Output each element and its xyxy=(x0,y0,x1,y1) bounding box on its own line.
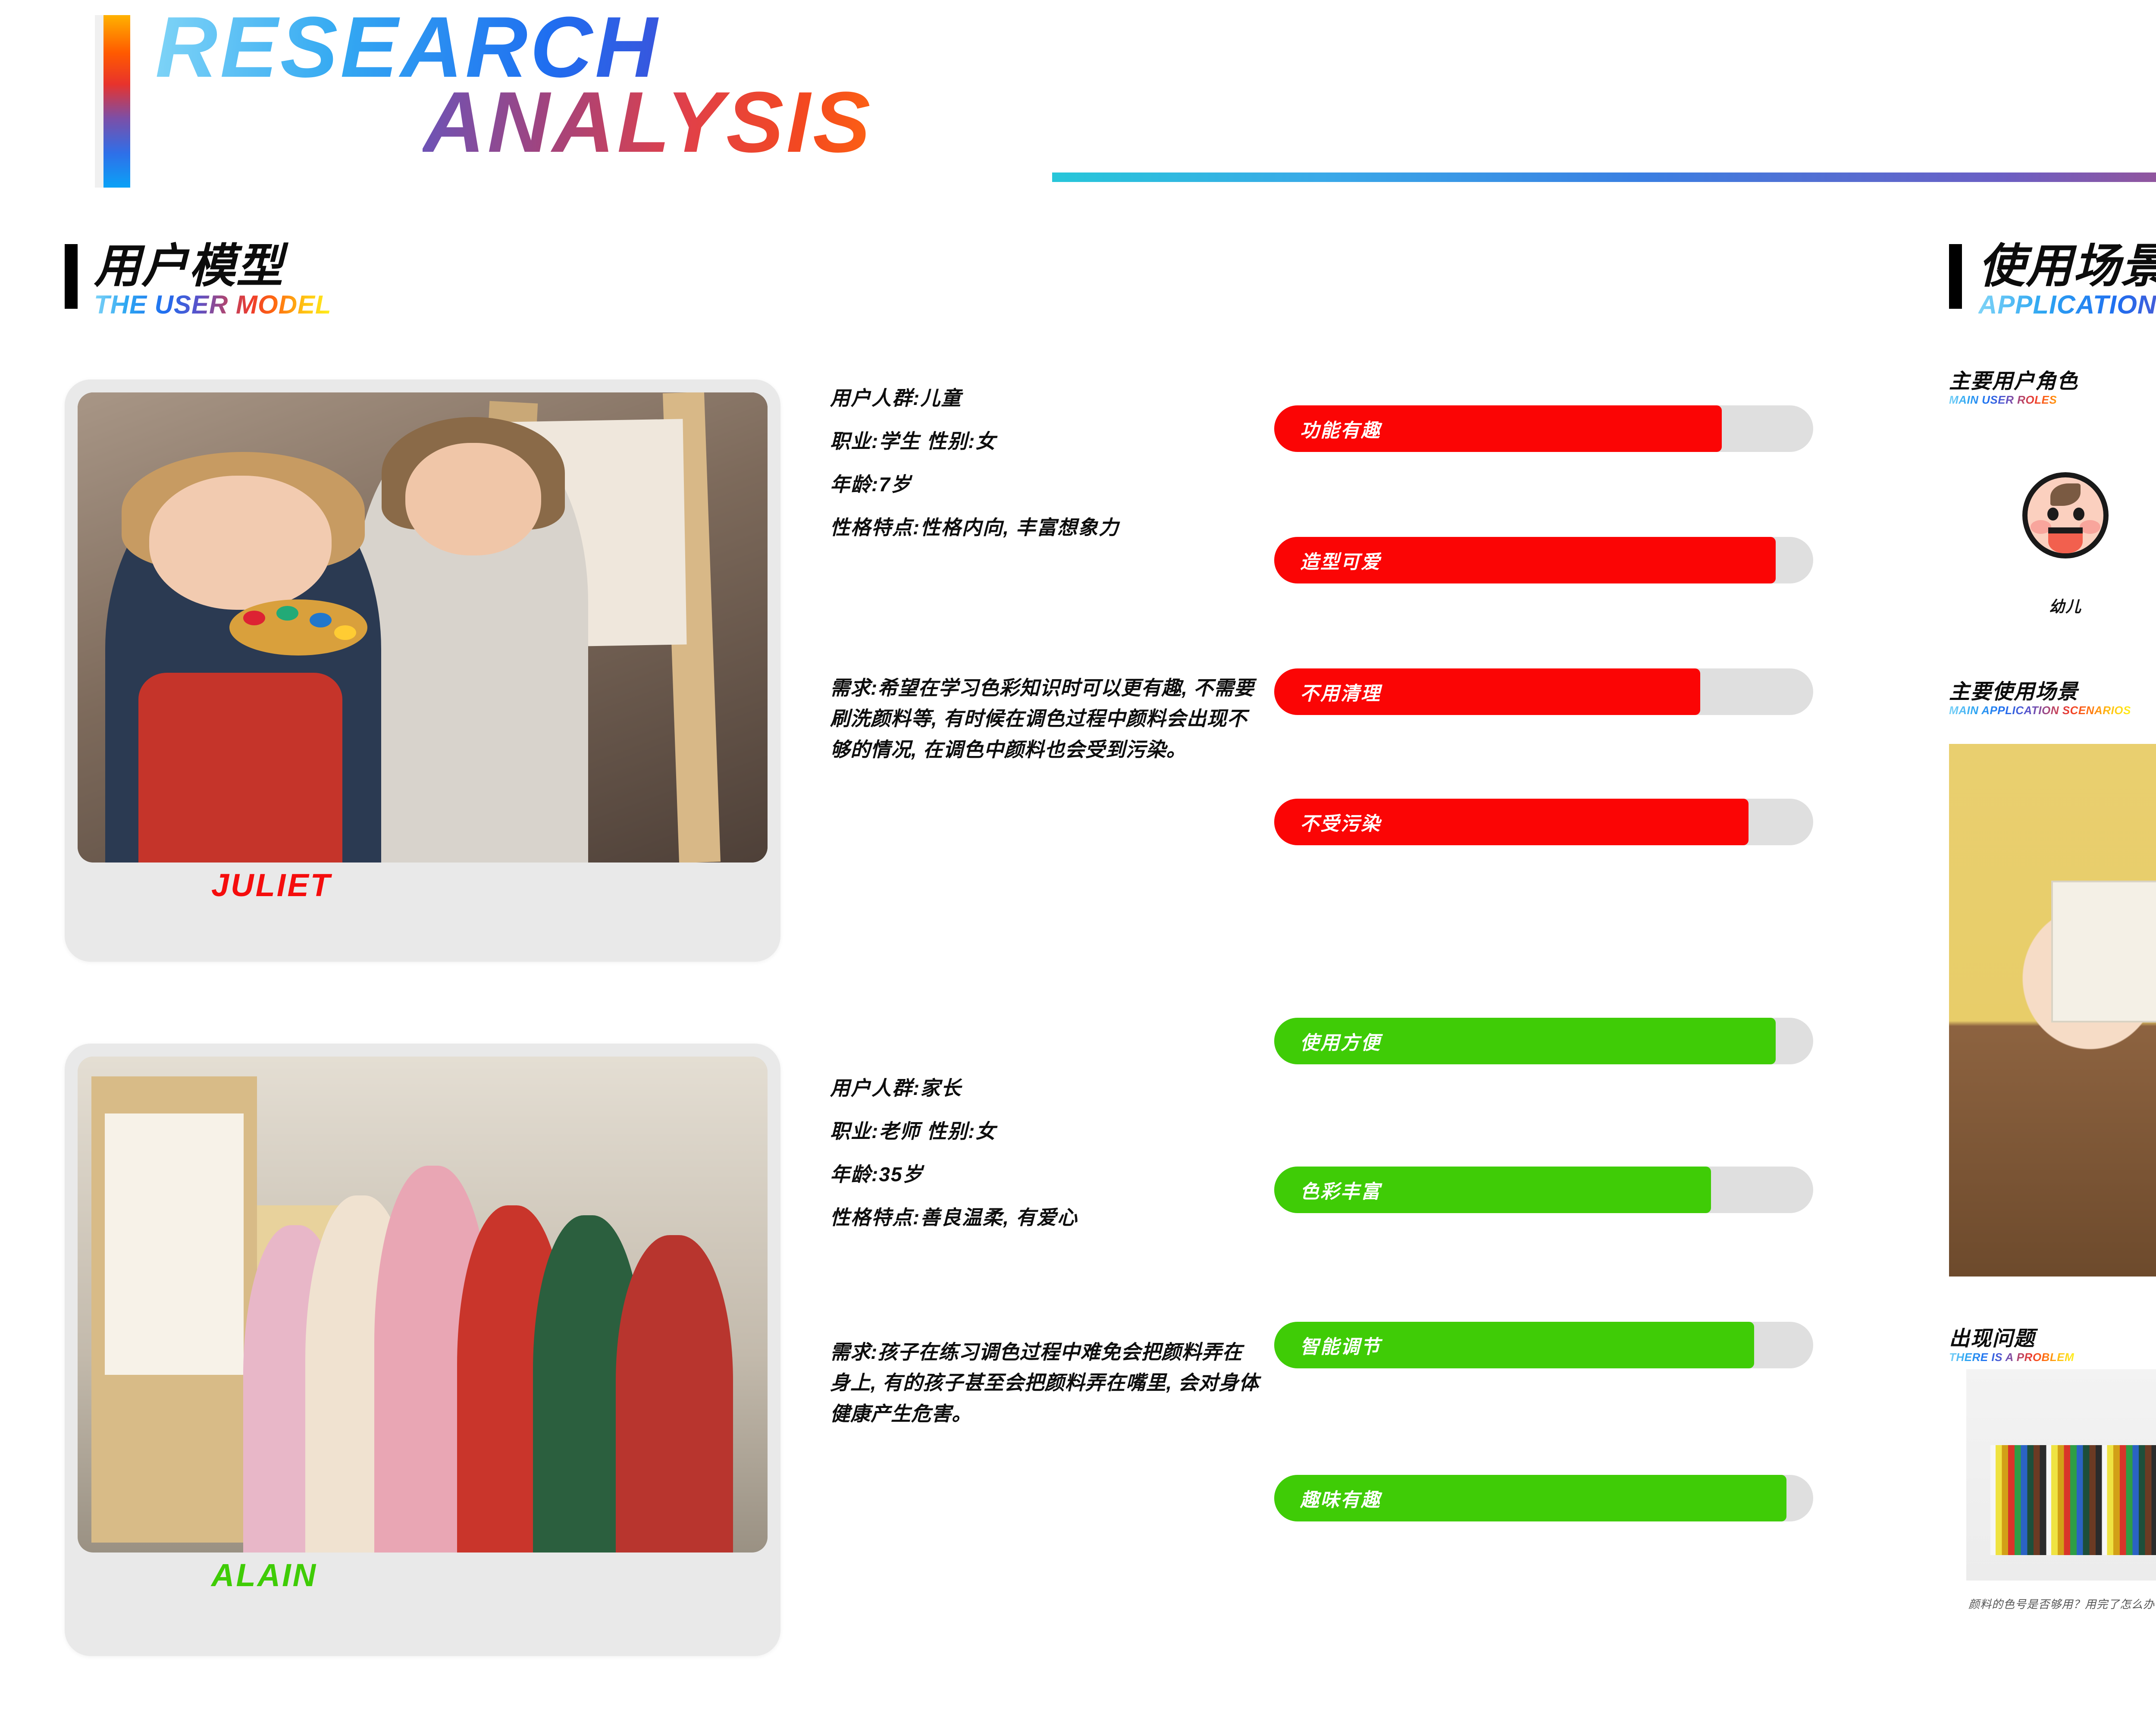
stat-bar-track: 色彩丰富 xyxy=(1274,1167,1813,1213)
stat-bar-label: 造型可爱 xyxy=(1300,546,1381,574)
section-heading-application-scenario: 使用场景分析 APPLICATION SCENARIO ANALYSIS xyxy=(1949,241,2156,328)
stat-bar-fill: 不受污染 xyxy=(1274,799,1749,845)
stat-bar-track: 造型可爱 xyxy=(1274,537,1813,583)
role-label: 幼儿 xyxy=(1966,594,2156,617)
stat-bar-fill: 不用清理 xyxy=(1274,668,1700,715)
heading-cn-text: 使用场景分析 xyxy=(1978,241,2156,290)
stat-bar-fill: 造型可爱 xyxy=(1274,537,1776,583)
heading-tick-mark xyxy=(65,244,78,309)
stat-bar-label: 不用清理 xyxy=(1300,678,1381,706)
stat-bar-track: 不受污染 xyxy=(1274,799,1813,845)
heading-en-text: APPLICATION SCENARIO ANALYSIS xyxy=(1978,290,2156,320)
scenario-photo-girl-painting-easel-yellow-room xyxy=(1949,744,2156,1276)
persona-info-line: 性格特点:善良温柔, 有爱心 xyxy=(830,1207,1078,1227)
persona-need-alain: 需求:孩子在练习调色过程中难免会把颜料弄在身上, 有的孩子甚至会把颜料弄在嘴里,… xyxy=(830,1337,1261,1429)
role-item-toddler: 幼儿 xyxy=(1966,444,2156,617)
persona-info-line: 性格特点:性格内向, 丰富想象力 xyxy=(830,517,1119,537)
persona-info-line: 年龄:35岁 xyxy=(830,1164,1078,1184)
stat-bar-track: 功能有趣 xyxy=(1274,405,1813,452)
problem-caption: 颜料的色号是否够用？用完了怎么办？ xyxy=(1968,1596,2156,1612)
problem-photo-paint-tubes-row xyxy=(1966,1369,2156,1581)
stat-bar-fill: 智能调节 xyxy=(1274,1322,1754,1368)
header-accent-bar xyxy=(103,15,130,188)
subheading-there-is-a-problem: 出现问题 THERE IS A PROBLEM xyxy=(1949,1328,2074,1364)
subheading-cn-text: 出现问题 xyxy=(1949,1328,2074,1350)
subheading-main-application-scenarios: 主要使用场景 MAIN APPLICATION SCENARIOS xyxy=(1949,681,2131,717)
persona-info-line: 用户人群:儿童 xyxy=(830,388,1119,408)
persona-card-alain: ALAIN xyxy=(65,1044,780,1656)
persona-info-line: 年龄:7岁 xyxy=(830,474,1119,494)
stat-bar-track: 不用清理 xyxy=(1274,668,1813,715)
stat-bar-label: 趣味有趣 xyxy=(1300,1484,1381,1512)
persona-photo-alain xyxy=(78,1057,768,1552)
persona-info-alain: 用户人群:家长 职业:老师 性别:女 年龄:35岁 性格特点:善良温柔, 有爱心 xyxy=(830,1078,1078,1251)
stat-bar-track: 趣味有趣 xyxy=(1274,1475,1813,1521)
baby-face-icon xyxy=(1966,444,2156,586)
stat-bar-label: 不受污染 xyxy=(1300,808,1381,836)
persona-card-juliet: JULIET xyxy=(65,379,780,962)
header-gradient-rule xyxy=(1052,172,2156,182)
stat-bar-label: 色彩丰富 xyxy=(1300,1176,1381,1204)
stat-bar-fill: 使用方便 xyxy=(1274,1018,1776,1064)
heading-cn-text: 用户模型 xyxy=(94,241,284,290)
stat-bar-fill: 色彩丰富 xyxy=(1274,1167,1711,1213)
persona-info-line: 职业:老师 性别:女 xyxy=(830,1121,1078,1141)
heading-en-text: THE USER MODEL xyxy=(94,290,332,320)
subheading-main-user-roles: 主要用户角色 MAIN USER ROLES xyxy=(1949,371,2078,407)
subheading-en-text: THERE IS A PROBLEM xyxy=(1949,1351,2074,1364)
persona-name-alain: ALAIN xyxy=(211,1557,317,1593)
page-title: RESEARCH ANALYSIS xyxy=(155,4,1190,194)
persona-info-juliet: 用户人群:儿童 职业:学生 性别:女 年龄:7岁 性格特点:性格内向, 丰富想象… xyxy=(830,388,1119,561)
heading-tick-mark xyxy=(1949,244,1962,309)
section-heading-user-model: 用户模型 THE USER MODEL xyxy=(65,241,668,328)
page-header: RESEARCH ANALYSIS xyxy=(0,0,2156,207)
subheading-en-text: MAIN USER ROLES xyxy=(1949,393,2078,407)
subheading-cn-text: 主要用户角色 xyxy=(1949,371,2078,392)
page-title-line2: ANALYSIS xyxy=(423,79,1190,166)
stat-bar-label: 使用方便 xyxy=(1300,1027,1381,1055)
persona-photo-juliet xyxy=(78,392,768,862)
persona-info-line: 用户人群:家长 xyxy=(830,1078,1078,1098)
stat-bar-fill: 功能有趣 xyxy=(1274,405,1722,452)
stat-bar-track: 使用方便 xyxy=(1274,1018,1813,1064)
persona-name-juliet: JULIET xyxy=(211,867,332,903)
stat-bar-fill: 趣味有趣 xyxy=(1274,1475,1786,1521)
persona-need-juliet: 需求:希望在学习色彩知识时可以更有趣, 不需要刷洗颜料等, 有时候在调色过程中颜… xyxy=(830,673,1261,765)
subheading-cn-text: 主要使用场景 xyxy=(1949,681,2131,703)
stat-bar-track: 智能调节 xyxy=(1274,1322,1813,1368)
stat-bar-label: 功能有趣 xyxy=(1300,415,1381,442)
subheading-en-text: MAIN APPLICATION SCENARIOS xyxy=(1949,704,2131,717)
persona-info-line: 职业:学生 性别:女 xyxy=(830,431,1119,451)
stat-bar-label: 智能调节 xyxy=(1300,1331,1381,1359)
